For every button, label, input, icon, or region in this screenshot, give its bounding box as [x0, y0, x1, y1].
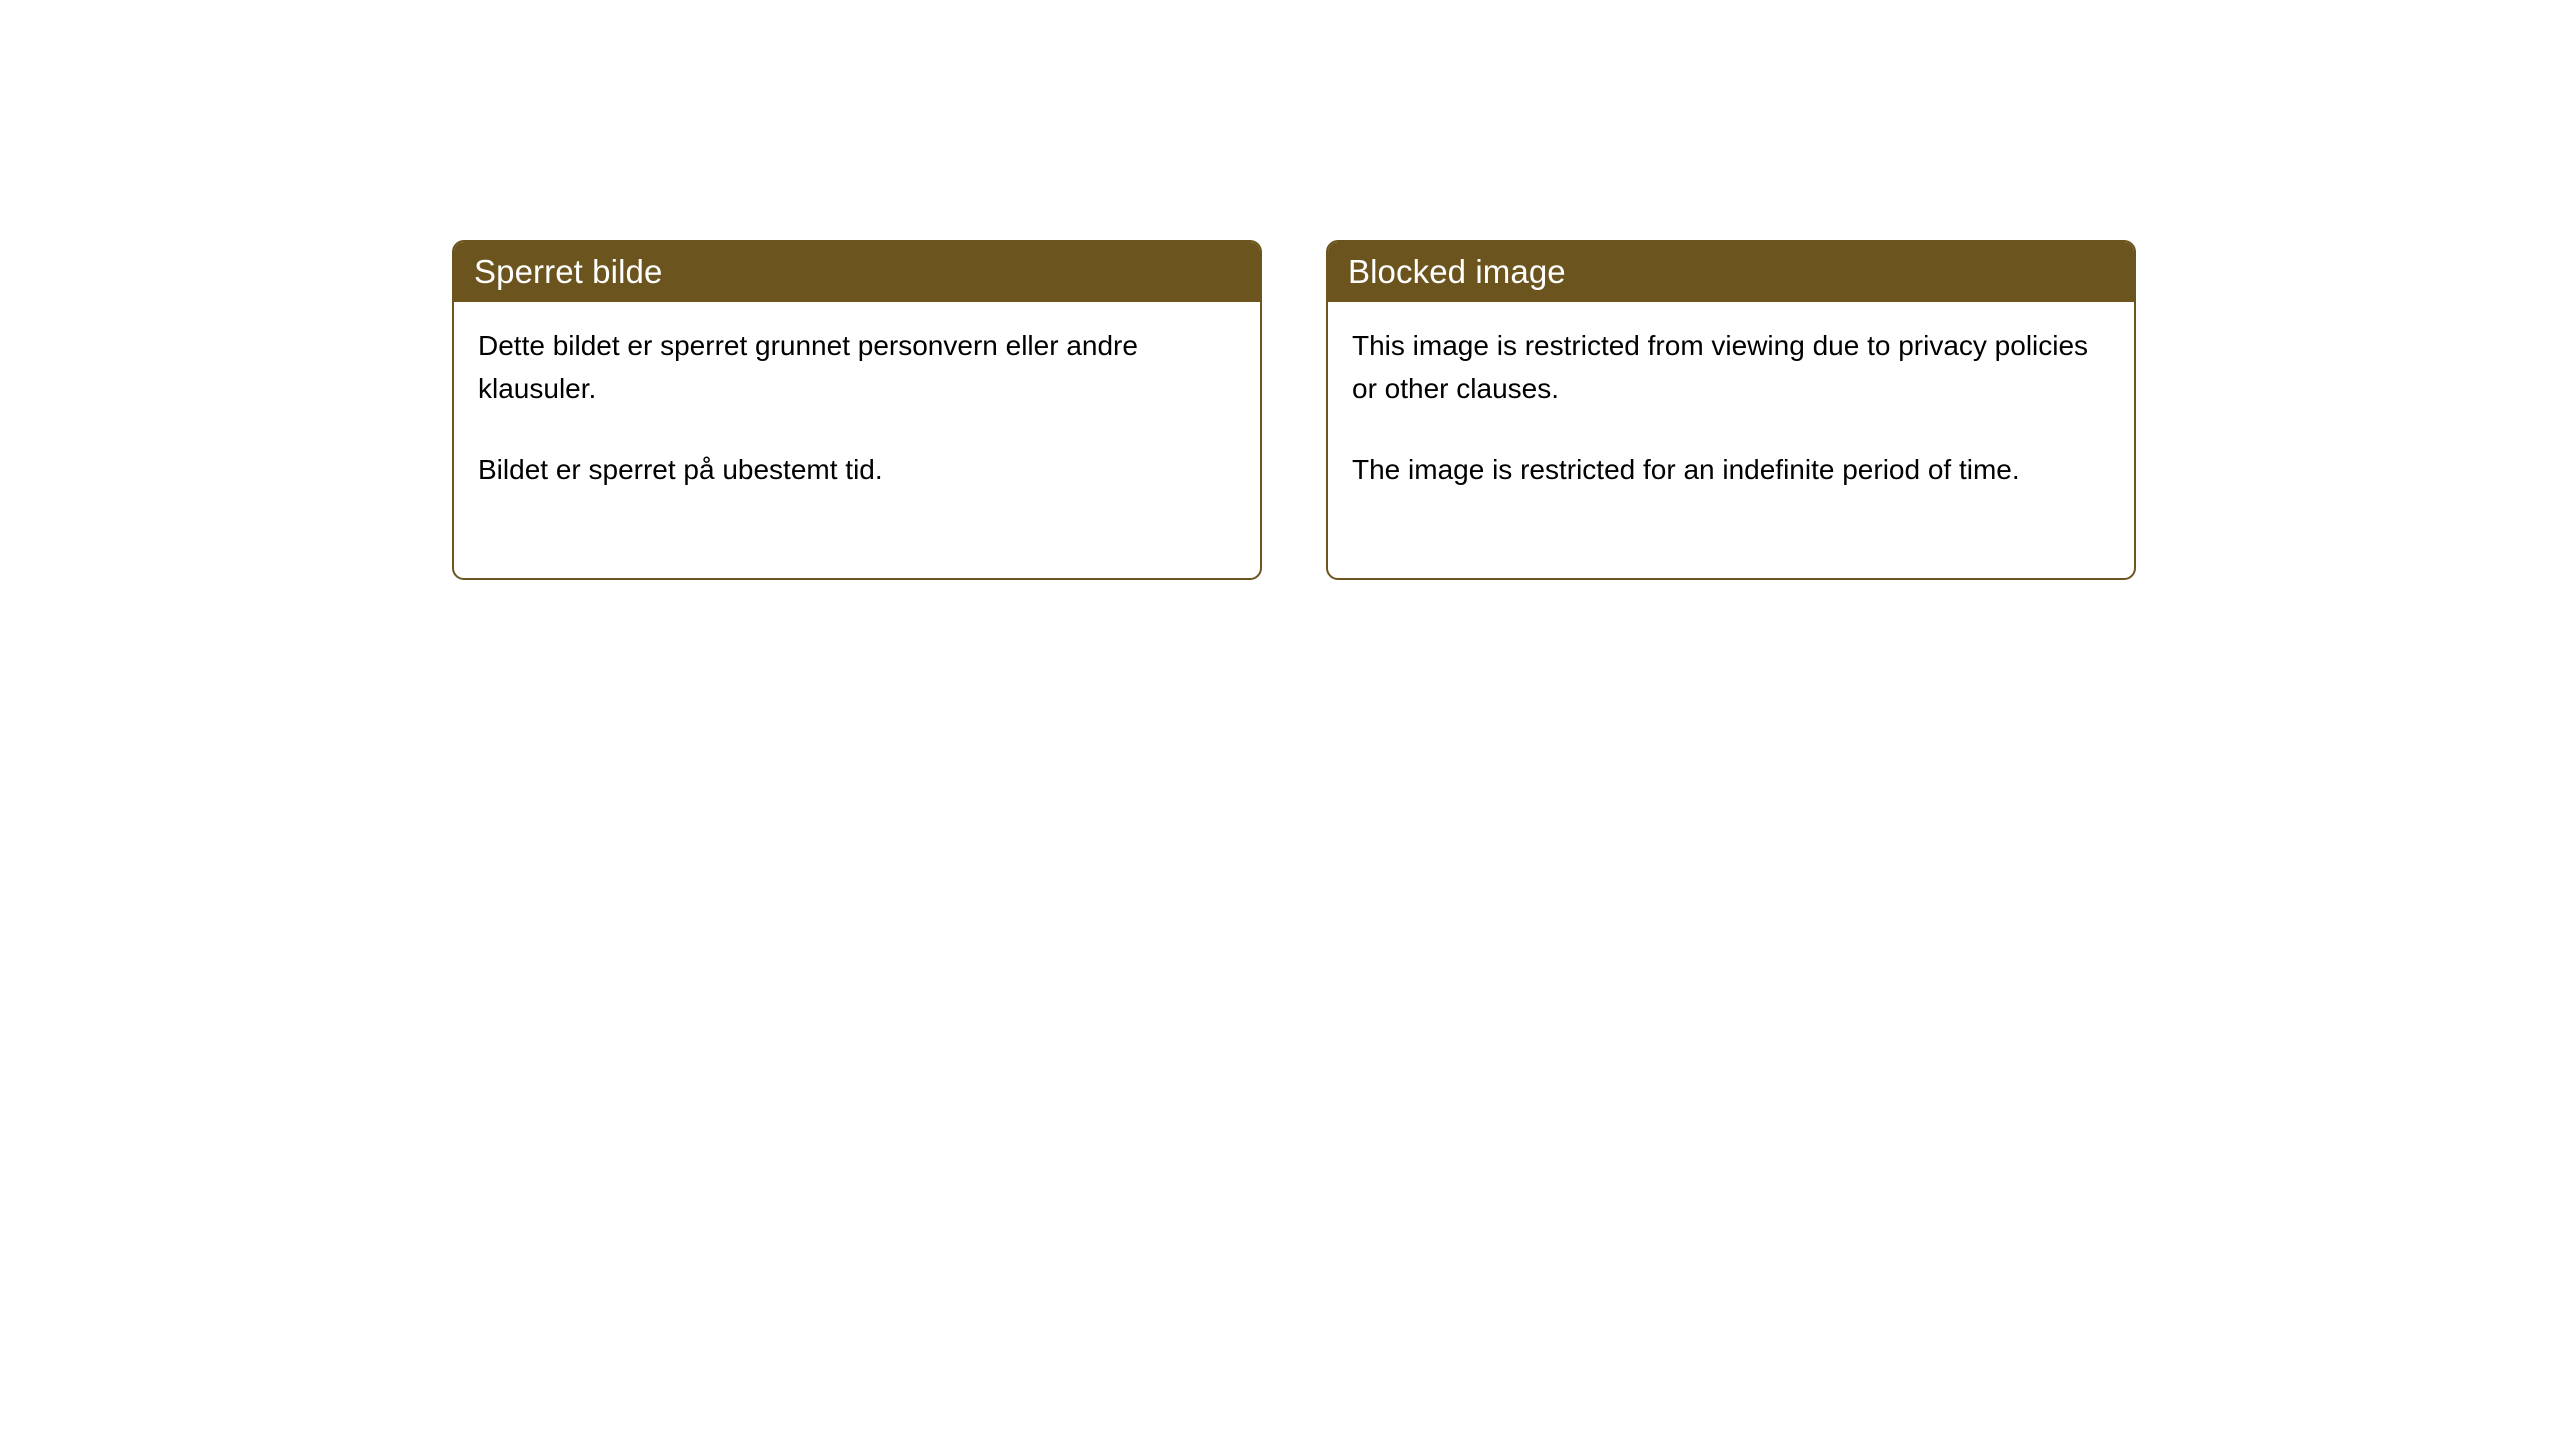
panel-title-no: Sperret bilde — [474, 255, 662, 288]
panel-paragraph-reason-en: This image is restricted from viewing du… — [1352, 324, 2110, 410]
blocked-image-panel-no: Sperret bilde Dette bildet er sperret gr… — [452, 240, 1262, 580]
panel-paragraph-reason-no: Dette bildet er sperret grunnet personve… — [478, 324, 1236, 410]
panel-header-no: Sperret bilde — [452, 240, 1262, 302]
panel-paragraph-duration-en: The image is restricted for an indefinit… — [1352, 448, 2110, 491]
panel-header-en: Blocked image — [1326, 240, 2136, 302]
page-root: { "theme": { "header_background": "#6b54… — [0, 0, 2560, 1440]
panel-body-no: Dette bildet er sperret grunnet personve… — [454, 302, 1260, 491]
panel-paragraph-duration-no: Bildet er sperret på ubestemt tid. — [478, 448, 1236, 491]
panel-body-en: This image is restricted from viewing du… — [1328, 302, 2134, 491]
panel-title-en: Blocked image — [1348, 255, 1566, 288]
blocked-image-panel-en: Blocked image This image is restricted f… — [1326, 240, 2136, 580]
